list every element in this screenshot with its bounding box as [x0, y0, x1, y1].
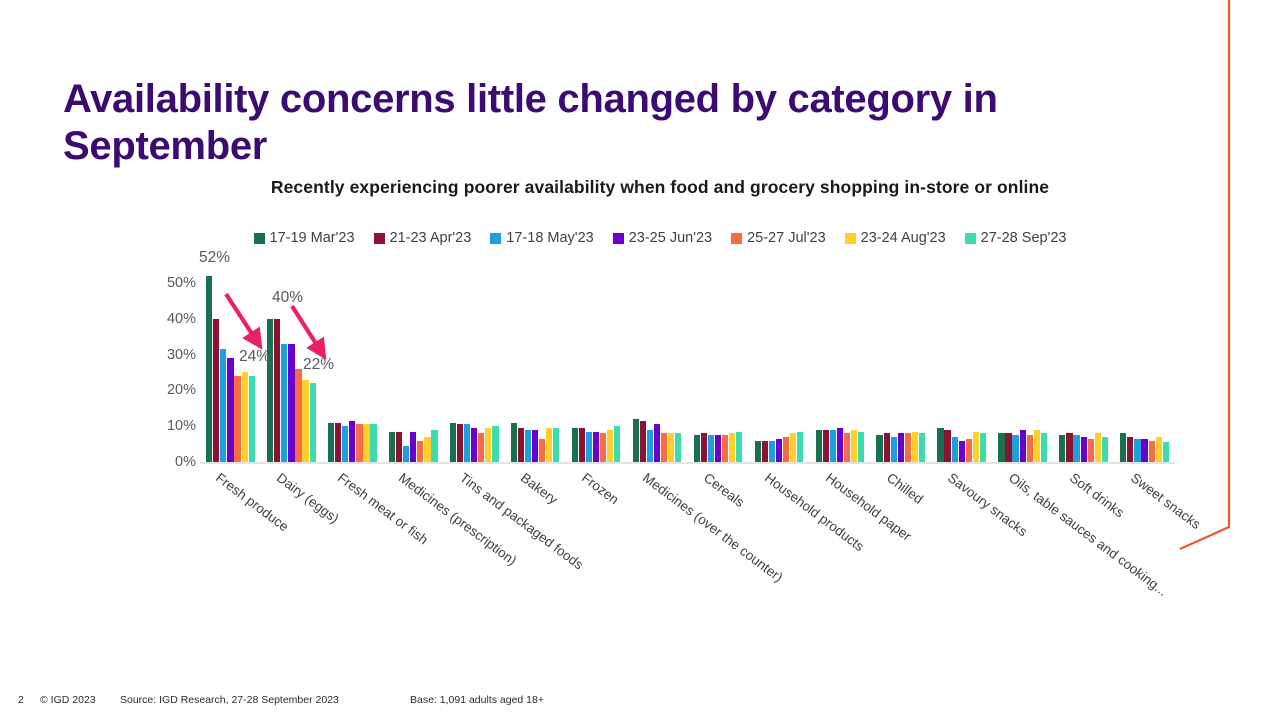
bar[interactable]: [919, 433, 925, 462]
bar[interactable]: [998, 433, 1004, 462]
bar[interactable]: [478, 433, 484, 462]
bar[interactable]: [1066, 433, 1072, 462]
bar[interactable]: [370, 424, 376, 462]
x-axis-baseline: [200, 462, 1175, 464]
legend-swatch-icon: [731, 233, 742, 244]
bar[interactable]: [790, 433, 796, 462]
bar[interactable]: [816, 430, 822, 462]
bar[interactable]: [966, 439, 972, 462]
bar[interactable]: [572, 428, 578, 462]
bar[interactable]: [363, 424, 369, 462]
bar[interactable]: [539, 439, 545, 462]
bar-group: [870, 265, 931, 462]
bar[interactable]: [694, 435, 700, 462]
bar[interactable]: [356, 424, 362, 462]
y-axis-tick-label: 10%: [167, 418, 196, 434]
bar-group: [809, 265, 870, 462]
bar[interactable]: [1027, 435, 1033, 462]
bar[interactable]: [858, 432, 864, 462]
bar[interactable]: [1102, 437, 1108, 462]
bar-group: [1114, 265, 1175, 462]
bar[interactable]: [633, 419, 639, 462]
bar[interactable]: [485, 428, 491, 462]
bar[interactable]: [518, 428, 524, 462]
legend-item[interactable]: 17-19 Mar'23: [254, 230, 355, 246]
bar-group: [1053, 265, 1114, 462]
bar[interactable]: [431, 430, 437, 462]
bar[interactable]: [959, 441, 965, 462]
x-axis-tick-label: Soft drinks: [1067, 470, 1127, 520]
bar-group: [627, 265, 688, 462]
footer-page-number: 2: [18, 694, 40, 706]
bar[interactable]: [532, 430, 538, 462]
bar-group: [931, 265, 992, 462]
legend-swatch-icon: [613, 233, 624, 244]
bar[interactable]: [973, 432, 979, 462]
bar[interactable]: [579, 428, 585, 462]
legend-swatch-icon: [965, 233, 976, 244]
x-axis-tick-label: Sweet snacks: [1128, 470, 1204, 532]
bar[interactable]: [342, 426, 348, 462]
bar[interactable]: [328, 423, 334, 462]
bar[interactable]: [1059, 435, 1065, 462]
bar[interactable]: [905, 433, 911, 462]
bar[interactable]: [511, 423, 517, 462]
bar[interactable]: [675, 433, 681, 462]
bar[interactable]: [335, 423, 341, 462]
bar[interactable]: [1095, 433, 1101, 462]
legend-item-label: 21-23 Apr'23: [390, 230, 472, 246]
bar[interactable]: [267, 319, 273, 462]
bar[interactable]: [722, 435, 728, 462]
callout-fresh-produce-last: 24%: [239, 348, 270, 366]
bar[interactable]: [937, 428, 943, 462]
bar[interactable]: [1120, 433, 1126, 462]
bar[interactable]: [206, 276, 212, 462]
y-axis-tick-label: 30%: [167, 347, 196, 363]
bar-group: [688, 265, 749, 462]
y-axis-tick-label: 20%: [167, 382, 196, 398]
bar[interactable]: [274, 319, 280, 462]
legend-swatch-icon: [490, 233, 501, 244]
bar[interactable]: [654, 424, 660, 462]
bar[interactable]: [755, 441, 761, 462]
x-axis-labels: Fresh produceDairy (eggs)Fresh meat or f…: [200, 466, 1175, 646]
legend-item[interactable]: 25-27 Jul'23: [731, 230, 826, 246]
y-axis-tick-label: 50%: [167, 275, 196, 291]
bar[interactable]: [553, 428, 559, 462]
x-axis-tick-label: Frozen: [579, 470, 622, 507]
bar[interactable]: [797, 432, 803, 462]
bar[interactable]: [944, 430, 950, 462]
footer-source: Source: IGD Research, 27-28 September 20…: [120, 694, 410, 706]
callout-dairy-last: 22%: [303, 356, 334, 374]
legend-item[interactable]: 27-28 Sep'23: [965, 230, 1067, 246]
bar[interactable]: [464, 424, 470, 462]
bar[interactable]: [295, 369, 301, 462]
bar[interactable]: [614, 426, 620, 462]
bar[interactable]: [1149, 441, 1155, 462]
bar-group: [748, 265, 809, 462]
bar[interactable]: [769, 441, 775, 462]
bar[interactable]: [729, 433, 735, 462]
bar[interactable]: [1005, 433, 1011, 462]
bar[interactable]: [1163, 442, 1169, 462]
bar[interactable]: [403, 446, 409, 462]
bar[interactable]: [249, 376, 255, 462]
bar[interactable]: [457, 424, 463, 462]
bar[interactable]: [736, 432, 742, 462]
bar[interactable]: [876, 435, 882, 462]
bar[interactable]: [492, 426, 498, 462]
y-axis: 0%10%20%30%40%50%: [148, 258, 196, 470]
bar[interactable]: [980, 433, 986, 462]
bar[interactable]: [281, 344, 287, 462]
bar[interactable]: [417, 441, 423, 462]
bar[interactable]: [450, 423, 456, 462]
bar[interactable]: [1141, 439, 1147, 462]
bar[interactable]: [1041, 433, 1047, 462]
legend-item-label: 23-24 Aug'23: [861, 230, 946, 246]
bar[interactable]: [396, 432, 402, 462]
bar[interactable]: [288, 344, 294, 462]
page-title: Availability concerns little changed by …: [63, 76, 1153, 170]
bar[interactable]: [1134, 439, 1140, 462]
bar[interactable]: [952, 437, 958, 462]
x-axis-tick-label: Household products: [762, 470, 867, 554]
footer: 2 © IGD 2023 Source: IGD Research, 27-28…: [18, 694, 1118, 706]
bar[interactable]: [1020, 430, 1026, 462]
bar[interactable]: [593, 432, 599, 462]
bar[interactable]: [607, 430, 613, 462]
x-axis-tick-label: Medicines (prescription): [396, 470, 519, 568]
bar-group: [992, 265, 1053, 462]
bar[interactable]: [1073, 435, 1079, 462]
bar-group: [383, 265, 444, 462]
legend-item[interactable]: 23-25 Jun'23: [613, 230, 712, 246]
bar[interactable]: [471, 428, 477, 462]
bar[interactable]: [389, 432, 395, 462]
footer-base: Base: 1,091 adults aged 18+: [410, 694, 544, 706]
legend-item-label: 17-19 Mar'23: [270, 230, 355, 246]
bar-group: [505, 265, 566, 462]
bar[interactable]: [310, 383, 316, 462]
bar[interactable]: [823, 430, 829, 462]
legend-item-label: 25-27 Jul'23: [747, 230, 826, 246]
bar[interactable]: [586, 432, 592, 462]
footer-copyright: © IGD 2023: [40, 694, 120, 706]
bar[interactable]: [844, 433, 850, 462]
bar[interactable]: [640, 421, 646, 462]
bar-plot-area: [200, 265, 1175, 462]
bar[interactable]: [762, 441, 768, 462]
bar[interactable]: [701, 433, 707, 462]
slide-canvas: Availability concerns little changed by …: [0, 0, 1280, 720]
bar[interactable]: [1081, 437, 1087, 462]
x-axis-tick-label: Cereals: [701, 470, 747, 510]
bar[interactable]: [898, 433, 904, 462]
legend-item-label: 23-25 Jun'23: [629, 230, 712, 246]
bar[interactable]: [851, 430, 857, 462]
bar[interactable]: [234, 376, 240, 462]
bar[interactable]: [837, 428, 843, 462]
bar[interactable]: [242, 372, 248, 462]
legend-swatch-icon: [254, 233, 265, 244]
legend-item[interactable]: 23-24 Aug'23: [845, 230, 946, 246]
bar[interactable]: [1034, 430, 1040, 462]
x-axis-tick-label: Bakery: [518, 470, 561, 507]
bar[interactable]: [525, 430, 531, 462]
bar[interactable]: [1012, 435, 1018, 462]
x-axis-tick-label: Chilled: [884, 470, 926, 507]
bar[interactable]: [776, 439, 782, 462]
legend-swatch-icon: [845, 233, 856, 244]
chart-subtitle: Recently experiencing poorer availabilit…: [150, 177, 1170, 198]
bar[interactable]: [830, 430, 836, 462]
bar[interactable]: [349, 421, 355, 462]
bar[interactable]: [647, 430, 653, 462]
legend-item[interactable]: 21-23 Apr'23: [374, 230, 472, 246]
bar[interactable]: [1088, 439, 1094, 462]
y-axis-tick-label: 0%: [175, 454, 196, 470]
bar[interactable]: [668, 433, 674, 462]
bar-group: [566, 265, 627, 462]
bar[interactable]: [708, 435, 714, 462]
callout-fresh-produce-first: 52%: [199, 249, 230, 267]
bar[interactable]: [546, 428, 552, 462]
legend-item-label: 17-18 May'23: [506, 230, 593, 246]
bar[interactable]: [783, 437, 789, 462]
chart-legend: 17-19 Mar'2321-23 Apr'2317-18 May'2323-2…: [150, 230, 1170, 246]
bar[interactable]: [1127, 437, 1133, 462]
legend-item-label: 27-28 Sep'23: [981, 230, 1067, 246]
bar[interactable]: [715, 435, 721, 462]
bar[interactable]: [891, 437, 897, 462]
bar[interactable]: [600, 433, 606, 462]
bar[interactable]: [424, 437, 430, 462]
bar[interactable]: [884, 433, 890, 462]
callout-dairy-first: 40%: [272, 289, 303, 307]
bar[interactable]: [213, 319, 219, 462]
bar[interactable]: [227, 358, 233, 462]
bar[interactable]: [1156, 437, 1162, 462]
legend-swatch-icon: [374, 233, 385, 244]
bar[interactable]: [410, 432, 416, 462]
bar[interactable]: [661, 433, 667, 462]
bar[interactable]: [302, 380, 308, 462]
y-axis-tick-label: 40%: [167, 311, 196, 327]
bar-group: [444, 265, 505, 462]
bar[interactable]: [912, 432, 918, 462]
legend-item[interactable]: 17-18 May'23: [490, 230, 593, 246]
bar[interactable]: [220, 349, 226, 462]
